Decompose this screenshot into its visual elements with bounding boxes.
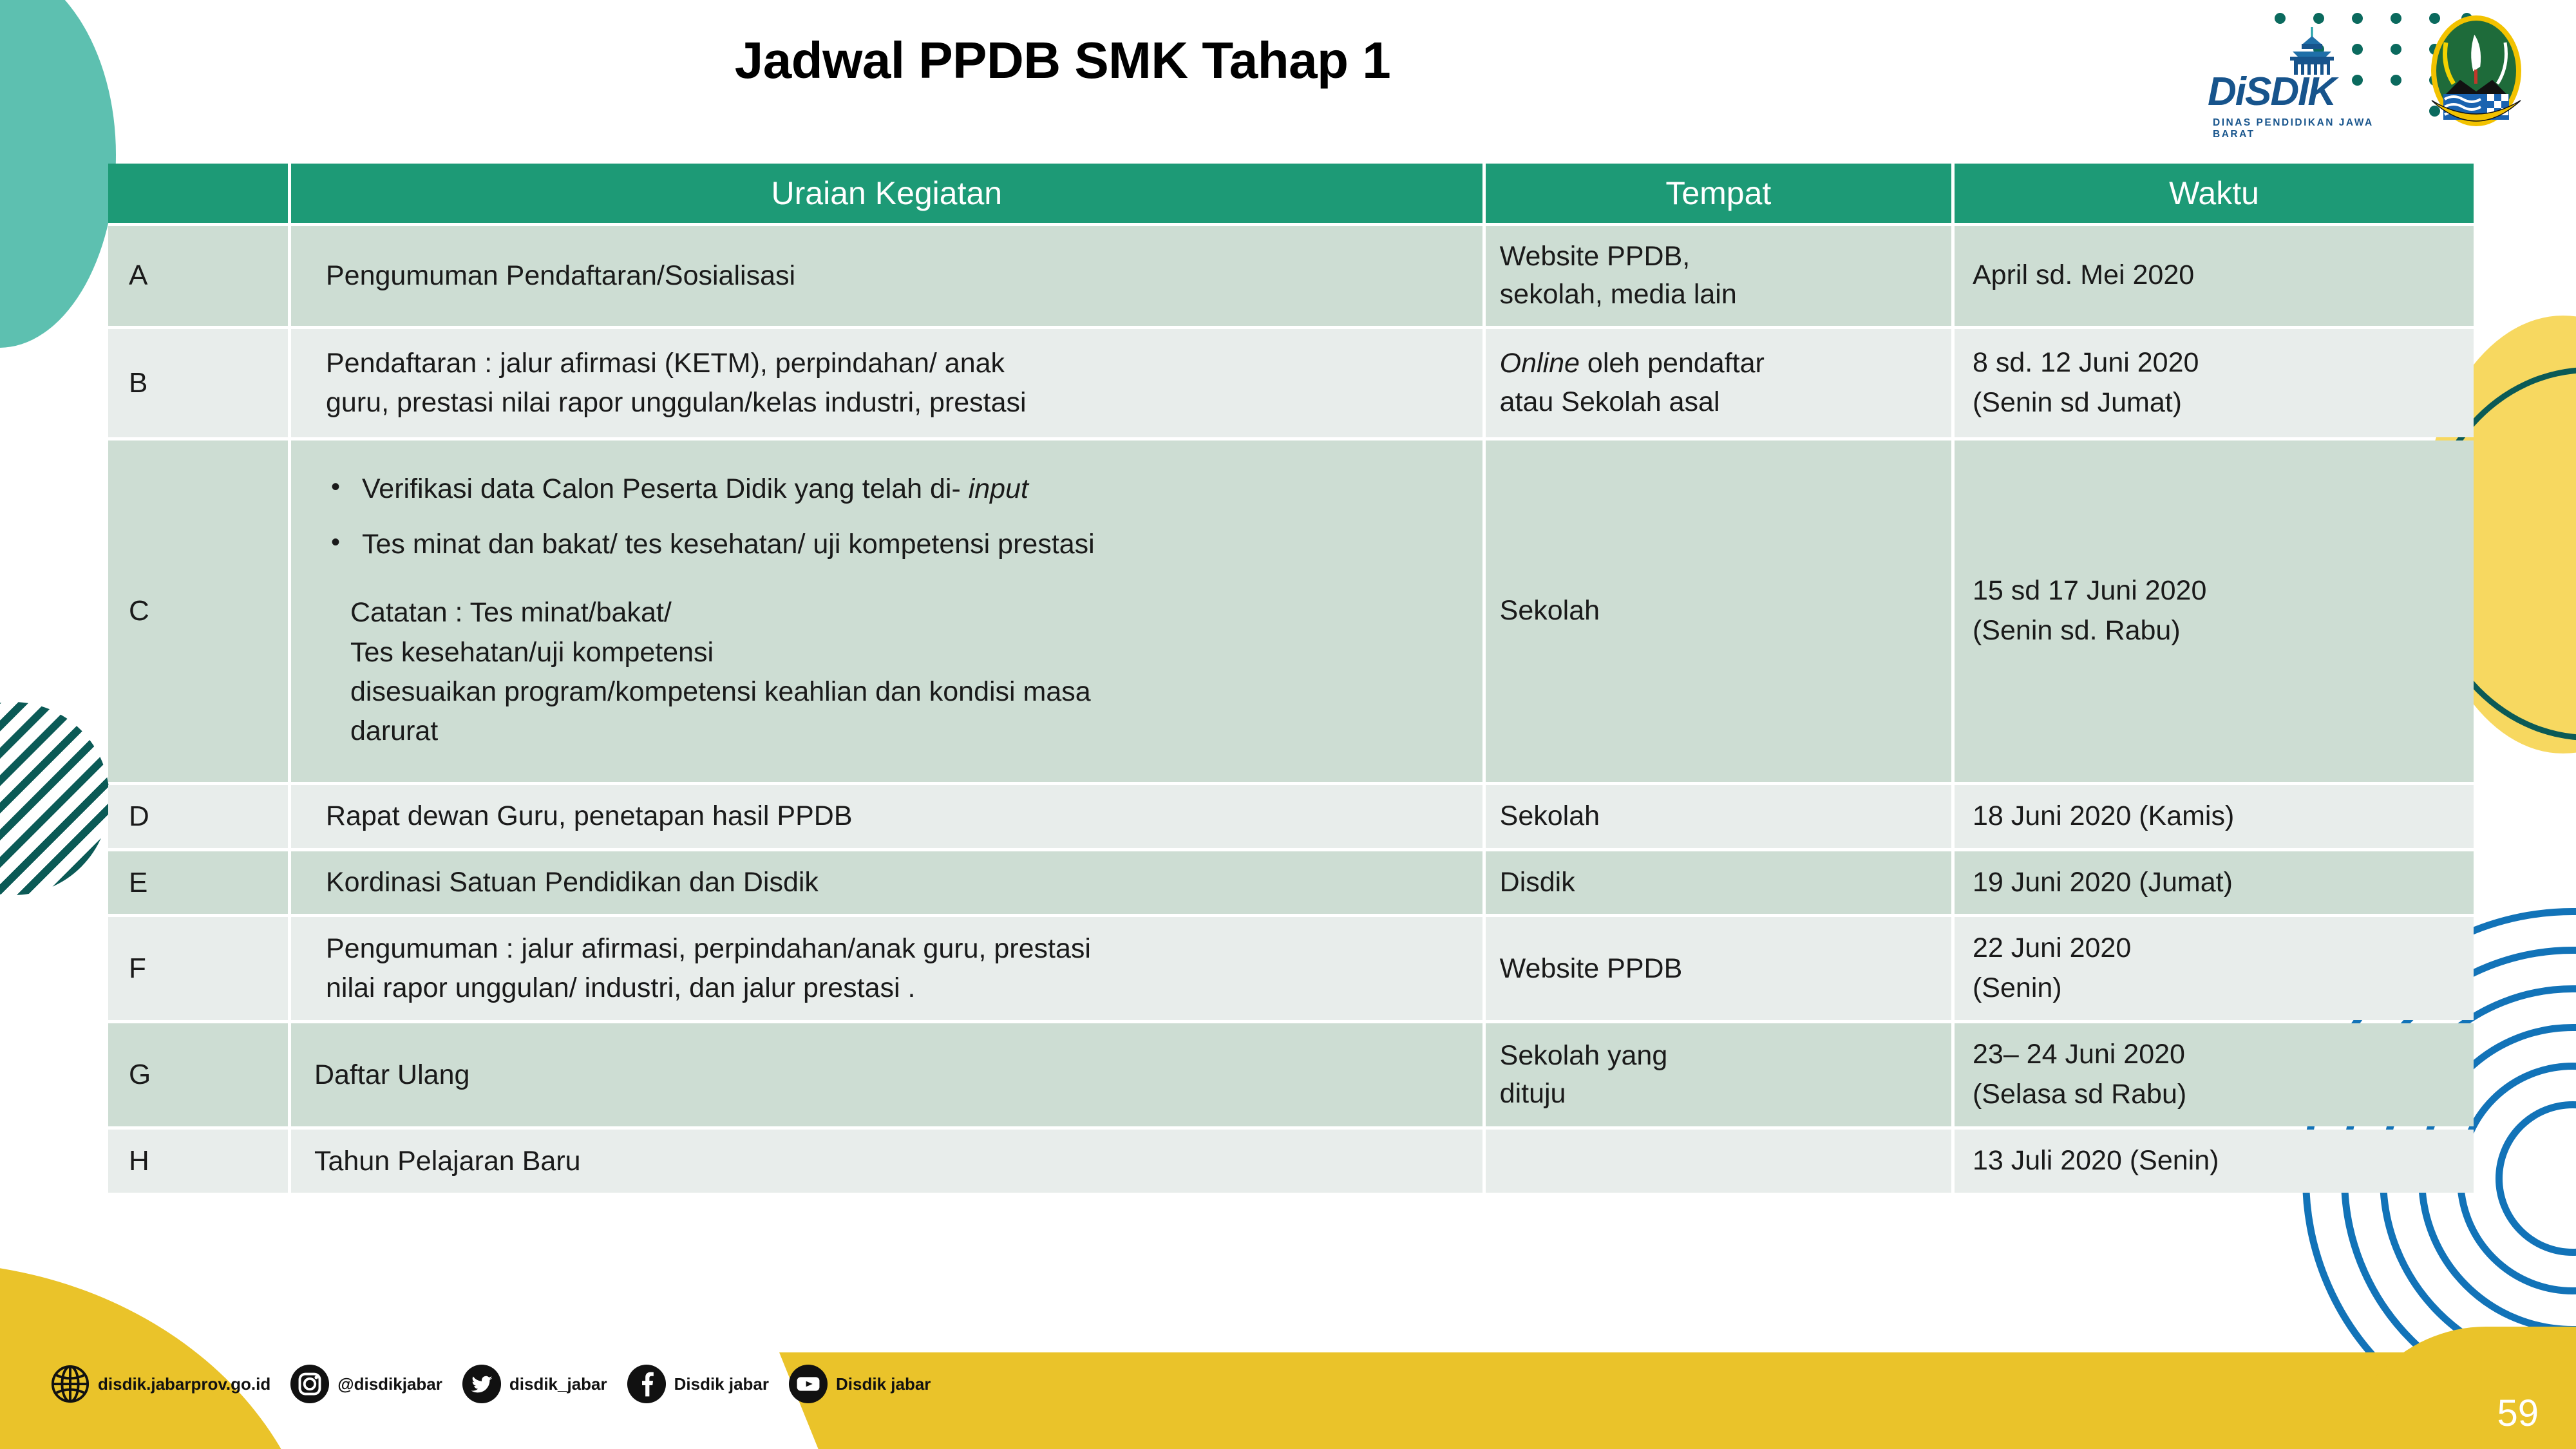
- col-header-waktu: Waktu: [1955, 164, 2474, 223]
- row-uraian: Pengumuman : jalur afirmasi, perpindahan…: [291, 917, 1482, 1020]
- row-tempat: Disdik: [1486, 851, 1951, 914]
- row-waktu: 8 sd. 12 Juni 2020 (Senin sd Jumat): [1955, 329, 2474, 437]
- row-tempat: Sekolah: [1486, 440, 1951, 782]
- col-header-tempat: Tempat: [1486, 164, 1951, 223]
- social-link-website[interactable]: disdik.jabarprov.go.id: [50, 1364, 270, 1404]
- note-line: disesuaikan program/kompetensi keahlian …: [350, 672, 1467, 712]
- note-line: Tes kesehatan/uji kompetensi: [350, 633, 1467, 672]
- facebook-icon: [627, 1364, 667, 1404]
- social-label: @disdikjabar: [337, 1374, 442, 1394]
- waktu-line: (Selasa sd Rabu): [1973, 1075, 2467, 1115]
- row-letter: A: [108, 226, 288, 326]
- yellow-footer-band-round: [2331, 1327, 2576, 1449]
- row-uraian: Tahun Pelajaran Baru: [291, 1130, 1482, 1193]
- row-letter: F: [108, 917, 288, 1020]
- uraian-line: Pengumuman : jalur afirmasi, perpindahan…: [326, 929, 1467, 969]
- table-row: H Tahun Pelajaran Baru 13 Juli 2020 (Sen…: [108, 1130, 2474, 1193]
- row-waktu: 13 Juli 2020 (Senin): [1955, 1130, 2474, 1193]
- schedule-table: Uraian Kegiatan Tempat Waktu A Pengumuma…: [105, 160, 2477, 1196]
- bullet-text: Verifikasi data Calon Peserta Didik yang…: [362, 473, 969, 504]
- table-header-row: Uraian Kegiatan Tempat Waktu: [108, 164, 2474, 223]
- row-tempat: [1486, 1130, 1951, 1193]
- row-tempat: Website PPDB, sekolah, media lain: [1486, 226, 1951, 326]
- page-title: Jadwal PPDB SMK Tahap 1: [0, 31, 2125, 90]
- uraian-line: Pendaftaran : jalur afirmasi (KETM), per…: [326, 344, 1467, 383]
- uraian-bullet-list: Verifikasi data Calon Peserta Didik yang…: [326, 471, 1467, 563]
- table-row: G Daftar Ulang Sekolah yang dituju 23– 2…: [108, 1023, 2474, 1126]
- tempat-line: Sekolah: [1500, 592, 1945, 630]
- tempat-italic-word: Online: [1500, 348, 1580, 379]
- twitter-icon: [462, 1364, 502, 1404]
- striped-circle-decoration: [0, 702, 109, 895]
- note-line: Catatan : Tes minat/bakat/: [350, 593, 1467, 632]
- note-line: darurat: [350, 712, 1467, 751]
- row-uraian: Pengumuman Pendaftaran/Sosialisasi: [291, 226, 1482, 326]
- table-row: D Rapat dewan Guru, penetapan hasil PPDB…: [108, 785, 2474, 848]
- tempat-line: sekolah, media lain: [1500, 276, 1945, 314]
- row-waktu: 22 Juni 2020 (Senin): [1955, 917, 2474, 1020]
- tempat-line: Online oleh pendaftar: [1500, 345, 1945, 383]
- slide-canvas: Jadwal PPDB SMK Tahap 1: [0, 0, 2576, 1449]
- social-label: Disdik jabar: [674, 1374, 769, 1394]
- row-tempat: Sekolah: [1486, 785, 1951, 848]
- tempat-line: Website PPDB,: [1500, 238, 1945, 276]
- disdik-subtitle: DINAS PENDIDIKAN JAWA BARAT: [2213, 117, 2414, 140]
- social-label: disdik_jabar: [509, 1374, 607, 1394]
- youtube-icon: [788, 1364, 828, 1404]
- disdik-logo: DiSDIK DINAS PENDIDIKAN JAWA BARAT: [2208, 27, 2414, 135]
- waktu-line: (Senin sd Jumat): [1973, 383, 2467, 423]
- page-number: 59: [2497, 1392, 2539, 1435]
- row-uraian: Pendaftaran : jalur afirmasi (KETM), per…: [291, 329, 1482, 437]
- social-link-instagram[interactable]: @disdikjabar: [290, 1364, 442, 1404]
- table-row: E Kordinasi Satuan Pendidikan dan Disdik…: [108, 851, 2474, 914]
- waktu-line: 22 Juni 2020: [1973, 929, 2467, 969]
- instagram-icon: [290, 1364, 330, 1404]
- social-media-bar: disdik.jabarprov.go.id @disdikjabar disd…: [50, 1364, 950, 1404]
- row-uraian: Rapat dewan Guru, penetapan hasil PPDB: [291, 785, 1482, 848]
- tempat-line: Website PPDB: [1500, 950, 1945, 988]
- row-uraian: Kordinasi Satuan Pendidikan dan Disdik: [291, 851, 1482, 914]
- table-row: C Verifikasi data Calon Peserta Didik ya…: [108, 440, 2474, 782]
- row-letter: H: [108, 1130, 288, 1193]
- social-link-twitter[interactable]: disdik_jabar: [462, 1364, 607, 1404]
- yellow-curve-decoration: [0, 1262, 322, 1449]
- globe-icon: [50, 1364, 90, 1404]
- disdik-wordmark: DiSDIK: [2208, 72, 2414, 112]
- gedung-sate-icon: [2273, 27, 2351, 76]
- waktu-line: 19 Juni 2020 (Jumat): [1973, 863, 2467, 903]
- uraian-note-block: Catatan : Tes minat/bakat/ Tes kesehatan…: [326, 593, 1467, 750]
- tempat-line: Sekolah yang: [1500, 1037, 1945, 1075]
- row-letter: B: [108, 329, 288, 437]
- row-uraian: Daftar Ulang: [291, 1023, 1482, 1126]
- waktu-line: 15 sd 17 Juni 2020: [1973, 571, 2467, 611]
- row-tempat: Sekolah yang dituju: [1486, 1023, 1951, 1126]
- uraian-line: guru, prestasi nilai rapor unggulan/kela…: [326, 383, 1467, 422]
- tempat-line: dituju: [1500, 1075, 1945, 1113]
- row-waktu: April sd. Mei 2020: [1955, 226, 2474, 326]
- waktu-line: April sd. Mei 2020: [1973, 256, 2467, 296]
- waktu-line: (Senin): [1973, 969, 2467, 1009]
- col-header-uraian: Uraian Kegiatan: [291, 164, 1482, 223]
- table-row: B Pendaftaran : jalur afirmasi (KETM), p…: [108, 329, 2474, 437]
- uraian-line: nilai rapor unggulan/ industri, dan jalu…: [326, 969, 1467, 1008]
- row-tempat: Online oleh pendaftar atau Sekolah asal: [1486, 329, 1951, 437]
- table-row: F Pengumuman : jalur afirmasi, perpindah…: [108, 917, 2474, 1020]
- tempat-rest: oleh pendaftar: [1580, 348, 1765, 379]
- list-item: Verifikasi data Calon Peserta Didik yang…: [326, 471, 1467, 507]
- bullet-italic-word: input: [969, 473, 1028, 504]
- schedule-table-wrapper: Uraian Kegiatan Tempat Waktu A Pengumuma…: [105, 160, 2477, 1196]
- row-waktu: 19 Juni 2020 (Jumat): [1955, 851, 2474, 914]
- row-waktu: 15 sd 17 Juni 2020 (Senin sd. Rabu): [1955, 440, 2474, 782]
- row-waktu: 18 Juni 2020 (Kamis): [1955, 785, 2474, 848]
- social-label: disdik.jabarprov.go.id: [98, 1374, 270, 1394]
- row-uraian: Verifikasi data Calon Peserta Didik yang…: [291, 440, 1482, 782]
- row-letter: E: [108, 851, 288, 914]
- waktu-line: 8 sd. 12 Juni 2020: [1973, 343, 2467, 383]
- col-header-letter: [108, 164, 288, 223]
- table-row: A Pengumuman Pendaftaran/Sosialisasi Web…: [108, 226, 2474, 326]
- row-tempat: Website PPDB: [1486, 917, 1951, 1020]
- logo-area: DiSDIK DINAS PENDIDIKAN JAWA BARAT: [2199, 4, 2559, 139]
- row-letter: D: [108, 785, 288, 848]
- waktu-line: 23– 24 Juni 2020: [1973, 1035, 2467, 1075]
- tempat-line: Disdik: [1500, 864, 1945, 902]
- waktu-line: (Senin sd. Rabu): [1973, 611, 2467, 651]
- jawa-barat-seal-icon: [2428, 13, 2524, 133]
- row-waktu: 23– 24 Juni 2020 (Selasa sd Rabu): [1955, 1023, 2474, 1126]
- social-link-facebook[interactable]: Disdik jabar: [627, 1364, 769, 1404]
- row-letter: C: [108, 440, 288, 782]
- row-letter: G: [108, 1023, 288, 1126]
- social-link-youtube[interactable]: Disdik jabar: [788, 1364, 931, 1404]
- waktu-line: 13 Juli 2020 (Senin): [1973, 1141, 2467, 1181]
- tempat-line: atau Sekolah asal: [1500, 383, 1945, 421]
- waktu-line: 18 Juni 2020 (Kamis): [1973, 797, 2467, 837]
- social-label: Disdik jabar: [836, 1374, 931, 1394]
- tempat-line: Sekolah: [1500, 797, 1945, 835]
- list-item: Tes minat dan bakat/ tes kesehatan/ uji …: [326, 527, 1467, 563]
